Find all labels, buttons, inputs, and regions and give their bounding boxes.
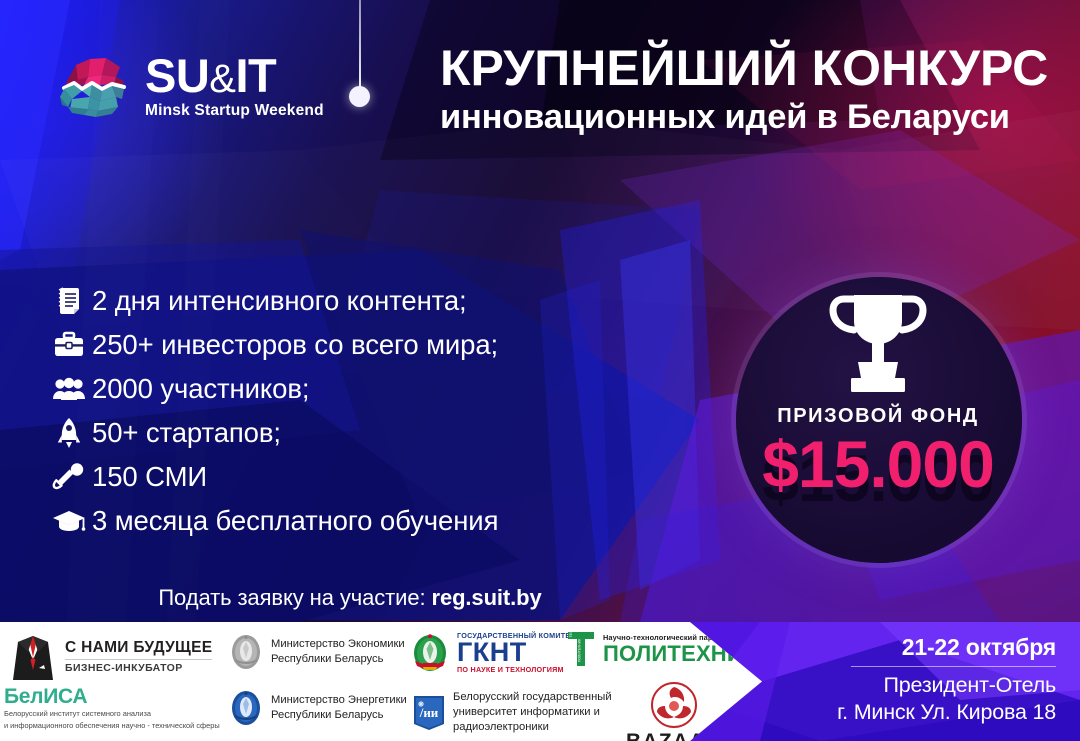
white-dot-decor xyxy=(349,86,370,107)
apply-url[interactable]: reg.suit.by xyxy=(431,585,541,610)
sponsor-suit-incubator: С НАМИ БУДУЩЕЕ БИЗНЕС-ИНКУБАТОР xyxy=(8,630,212,682)
prize-amount: $15.000 xyxy=(718,431,1038,497)
sponsor-belisa-desc2: и информационного обеспечения научно - т… xyxy=(4,721,220,731)
rose-icon xyxy=(647,680,701,730)
technopark-t-icon: ТЕХНОПАРК ПОЛИТЕХНИК xyxy=(566,630,596,668)
poster-header: SU&IT Minsk Startup Weekend КРУПНЕЙШИЙ К… xyxy=(0,0,1080,170)
list-item-label: 50+ стартапов; xyxy=(92,417,281,449)
event-address: г. Минск Ул. Кирова 18 xyxy=(770,700,1056,725)
sponsor-gknt-main: ГКНТ xyxy=(457,639,575,666)
sponsor-minecon-line1: Министерство Экономики xyxy=(271,637,405,652)
prize-label: ПРИЗОВОЙ ФОНД xyxy=(718,405,1038,428)
list-item-label: 250+ инвесторов со всего мира; xyxy=(92,329,498,361)
event-venue: Президент-Отель xyxy=(770,673,1056,698)
sponsor-minener-line2: Республики Беларусь xyxy=(271,708,407,723)
sponsor-suit-title: С НАМИ БУДУЩЕЕ xyxy=(65,639,212,657)
svg-text:/ии: /ии xyxy=(419,705,439,720)
bsuir-emblem-icon: /ии xyxy=(412,694,446,732)
sponsor-minener-line1: Министерство Энергетики xyxy=(271,693,407,708)
logo-wordmark: SU&IT xyxy=(145,52,324,99)
graduation-cap-icon xyxy=(46,508,92,534)
sponsor-bsuir: /ии Белорусский государственный универси… xyxy=(412,690,612,735)
svg-text:ТЕХНОПАРК: ТЕХНОПАРК xyxy=(569,630,573,638)
event-details: 21-22 октября Президент-Отель г. Минск У… xyxy=(770,634,1070,725)
notebook-icon xyxy=(46,286,92,316)
suit-logo: SU&IT Minsk Startup Weekend xyxy=(50,52,324,120)
list-item: 2000 участников; xyxy=(46,368,666,409)
microphone-icon xyxy=(46,462,92,492)
sponsor-belisa: БелИСА Белорусский институт системного а… xyxy=(4,686,220,731)
business-suit-icon xyxy=(8,630,58,682)
list-item: 50+ стартапов; xyxy=(46,412,666,453)
brain-icon xyxy=(50,53,132,119)
list-item: 250+ инвесторов со всего мира; xyxy=(46,324,666,365)
apply-prefix: Подать заявку на участие: xyxy=(158,585,431,610)
sponsor-bsuir-line2: университет информатики и xyxy=(453,705,612,720)
headline-main: КРУПНЕЙШИЙ КОНКУРС xyxy=(440,43,1070,94)
belarus-emblem-color-icon xyxy=(410,633,450,673)
list-item-label: 3 месяца бесплатного обучения xyxy=(92,505,498,537)
headline-block: КРУПНЕЙШИЙ КОНКУРС инновационных идей в … xyxy=(440,43,1070,138)
svg-text:ПОЛИТЕХНИК: ПОЛИТЕХНИК xyxy=(578,639,582,662)
belarus-emblem-blue-icon xyxy=(228,690,264,726)
sponsor-suit-subtitle: БИЗНЕС-ИНКУБАТОР xyxy=(65,662,212,674)
logo-it: IT xyxy=(235,49,276,102)
list-item-label: 2 дня интенсивного контента; xyxy=(92,285,467,317)
sponsor-gknt-bottom: ПО НАУКЕ И ТЕХНОЛОГИЯМ xyxy=(457,666,575,673)
logo-ampersand: & xyxy=(209,57,235,101)
prize-fund-block: ПРИЗОВОЙ ФОНД $15.000 xyxy=(718,265,1038,585)
sponsor-gknt: ГОСУДАРСТВЕННЫЙ КОМИТЕТ ГКНТ ПО НАУКЕ И … xyxy=(410,632,575,673)
sponsor-ministry-energy: Министерство Энергетики Республики Белар… xyxy=(228,690,407,726)
sponsor-ministry-economy: Министерство Экономики Республики Белару… xyxy=(228,634,405,670)
hanging-line-decor xyxy=(359,0,361,90)
divider xyxy=(65,659,212,660)
apply-cta[interactable]: Подать заявку на участие: reg.suit.by xyxy=(0,585,700,611)
sponsor-bsuir-line3: радиоэлектроники xyxy=(453,720,612,735)
list-item-label: 2000 участников; xyxy=(92,373,309,405)
feature-list: 2 дня интенсивного контента; 250+ инвест… xyxy=(46,280,666,544)
list-item: 3 месяца бесплатного обучения xyxy=(46,500,666,541)
belarus-emblem-gray-icon xyxy=(228,634,264,670)
divider xyxy=(851,666,1056,667)
sponsor-belisa-name: БелИСА xyxy=(4,686,220,707)
briefcase-icon xyxy=(46,331,92,359)
sponsor-minecon-line2: Республики Беларусь xyxy=(271,652,405,667)
logo-tagline: Minsk Startup Weekend xyxy=(145,102,324,120)
list-item: 2 дня интенсивного контента; xyxy=(46,280,666,321)
logo-su: SU xyxy=(145,49,209,102)
sponsor-belisa-desc1: Белорусский институт системного анализа xyxy=(4,709,220,719)
trophy-icon xyxy=(824,287,932,405)
list-item-label: 150 СМИ xyxy=(92,461,207,493)
sponsor-bsuir-line1: Белорусский государственный xyxy=(453,690,612,705)
headline-sub: инновационных идей в Беларуси xyxy=(440,98,1070,138)
list-item: 150 СМИ xyxy=(46,456,666,497)
people-icon xyxy=(46,377,92,401)
event-date: 21-22 октября xyxy=(770,634,1056,661)
poster-canvas: SU&IT Minsk Startup Weekend КРУПНЕЙШИЙ К… xyxy=(0,0,1080,741)
sponsor-bar: С НАМИ БУДУЩЕЕ БИЗНЕС-ИНКУБАТОР БелИСА Б… xyxy=(0,622,762,741)
rocket-icon xyxy=(46,417,92,449)
